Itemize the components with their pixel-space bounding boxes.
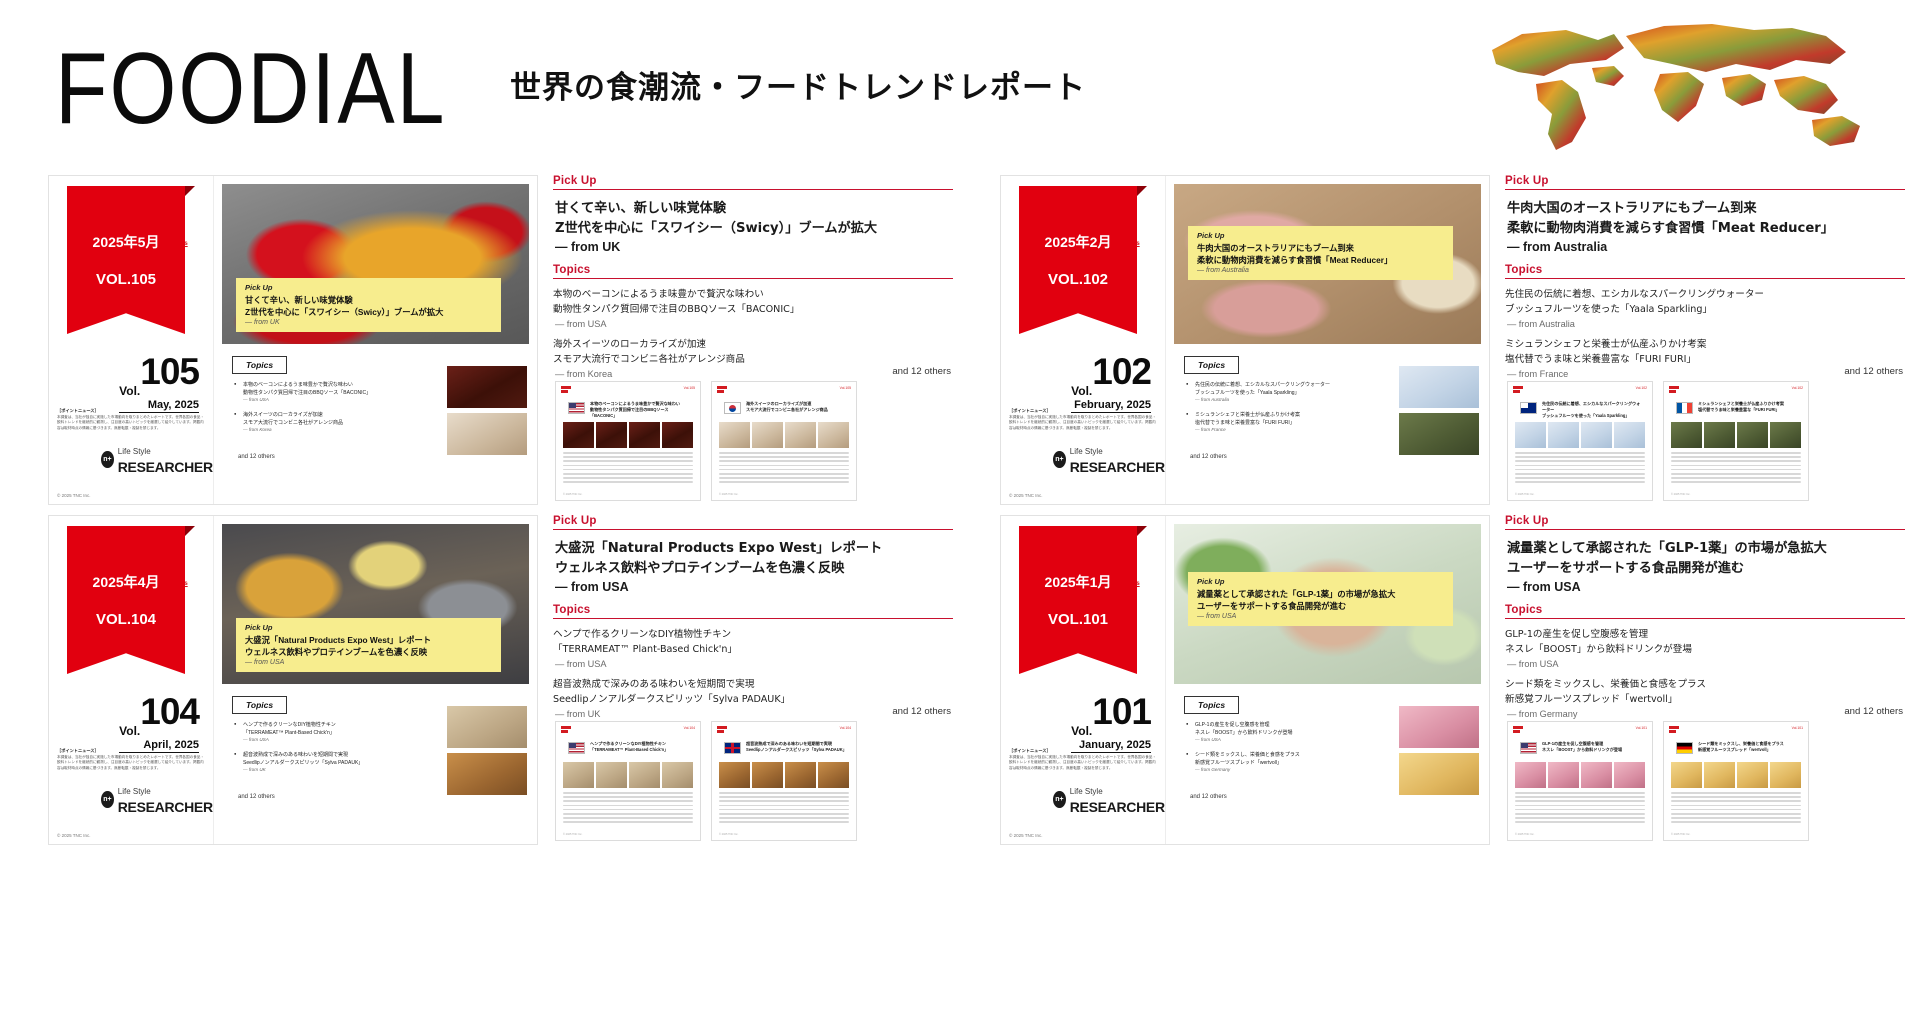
logo-mark-icon: n+ bbox=[101, 451, 114, 468]
and-others-label: and 12 others bbox=[892, 706, 951, 717]
page-header: FOODIAL 世界の食潮流・フードトレンドレポート bbox=[0, 0, 1912, 170]
logo-mark-icon: n+ bbox=[1053, 791, 1066, 808]
pickup-label: Pick Up bbox=[553, 175, 953, 187]
slide-topics-badge: Topics bbox=[232, 356, 287, 374]
topics-section: Topics 先住民の伝統に着想、エシカルなスパークリングウォーター ブッシュフ… bbox=[1505, 264, 1905, 379]
page-title: 世界の食潮流・フードトレンドレポート bbox=[510, 62, 1086, 107]
issue-ribbon: 2025年4月 VOL.104 bbox=[67, 526, 185, 674]
issue-ribbon: 2025年1月 VOL.101 bbox=[1019, 526, 1137, 674]
report-page: FOODIAL 世界の食潮流・フードトレンドレポート bbox=[0, 0, 1912, 1036]
list-item: 超音波熟成で深みのある味わいを短期間で実現 Seedlipノンアルダークスピリッ… bbox=[234, 751, 429, 772]
and-others-label: and 12 others bbox=[1190, 794, 1227, 800]
list-item: ミシュランシェフと栄養士が仏産ふりかけ考案 塩代替でうま味と栄養豊富な「FURI… bbox=[1186, 411, 1381, 432]
pickup-section: Pick Up 減量薬として承認された「GLP-1薬」の市場が急拡大 ユーザーを… bbox=[1505, 515, 1905, 594]
list-item: ヘンプで作るクリーンなDIY植物性チキン 「TERRAMEAT™ Plant-B… bbox=[234, 721, 429, 742]
slide-volume: Vol.101 January, 2025 bbox=[1071, 691, 1151, 753]
and-others-label: and 12 others bbox=[238, 794, 275, 800]
list-item: 海外スイーツのローカライズが加速 スモア大流行でコンビニ各社がアレンジ商品 — … bbox=[234, 411, 429, 432]
hero-photo: Pick Up 減量薬として承認された「GLP-1薬」の市場が急拡大 ユーザーを… bbox=[1174, 524, 1481, 684]
article-thumbnails: Vol.102 先住民の伝統に着想、エシカルなスパークリングウォーターブッシュフ… bbox=[1507, 381, 1809, 501]
article-thumbnail[interactable]: Vol.102 先住民の伝統に着想、エシカルなスパークリングウォーターブッシュフ… bbox=[1507, 381, 1653, 501]
slide-topics-list: ヘンプで作るクリーンなDIY植物性チキン 「TERRAMEAT™ Plant-B… bbox=[234, 721, 429, 781]
list-item: 本物のベーコンによるうま味豊かで贅沢な味わい 動物性タンパク質回帰で注目のBBQ… bbox=[234, 381, 429, 402]
pickup-section: Pick Up 牛肉大国のオーストラリアにもブーム到来 柔軟に動物肉消費を減らす… bbox=[1505, 175, 1905, 254]
flag-icon bbox=[1520, 402, 1537, 414]
topics-label: Topics bbox=[1505, 264, 1905, 276]
flag-icon bbox=[568, 742, 585, 754]
slide-note: ［ポイントニュース］ 本調査は、当社が独自に実施した市場動向を取りまとめたレポー… bbox=[1009, 408, 1159, 431]
list-item: GLP-1の産生を促し空腹感を管理 ネスレ「BOOST」から飲料ドリンクが登場 … bbox=[1186, 721, 1381, 742]
topic-item: GLP-1の産生を促し空腹感を管理 ネスレ「BOOST」から飲料ドリンクが登場 … bbox=[1505, 628, 1905, 669]
card-text-column: Pick Up 減量薬として承認された「GLP-1薬」の市場が急拡大 ユーザーを… bbox=[1505, 515, 1905, 845]
slide-body: Pick Up 大盛況「Natural Products Expo West」レ… bbox=[214, 516, 537, 844]
flag-icon bbox=[1520, 742, 1537, 754]
and-others-label: and 12 others bbox=[238, 454, 275, 460]
copyright: © 2025 TNC Inc. bbox=[57, 493, 91, 498]
hero-callout: Pick Up 減量薬として承認された「GLP-1薬」の市場が急拡大 ユーザーを… bbox=[1188, 572, 1453, 626]
slide-topics-badge: Topics bbox=[1184, 696, 1239, 714]
and-others-label: and 12 others bbox=[1190, 454, 1227, 460]
list-item: シード類をミックスし、栄養価と食感をプラス 新感覚フルーツスプレッド「wertv… bbox=[1186, 751, 1381, 772]
pickup-label: Pick Up bbox=[1505, 515, 1905, 527]
flag-icon bbox=[724, 742, 741, 754]
slide-preview[interactable]: Foodial Trends Vol.105 May, 2025 ［ポイントニュ… bbox=[48, 175, 538, 505]
flag-icon bbox=[568, 402, 585, 414]
report-card[interactable]: Foodial Trends Vol.102 February, 2025 ［ポ… bbox=[1000, 175, 1905, 505]
article-thumbnail[interactable]: Vol.104 超音波熟成で深みのある味わいを短期間で実現Seedlipノンアル… bbox=[711, 721, 857, 841]
article-thumbnails: Vol.104 ヘンプで作るクリーンなDIY植物性チキン「TERRAMEAT™ … bbox=[555, 721, 857, 841]
slide-thumbnails bbox=[447, 366, 527, 460]
slide-thumbnails bbox=[447, 706, 527, 800]
world-map-icon bbox=[1474, 14, 1894, 159]
slide-thumbnails bbox=[1399, 706, 1479, 800]
list-item: 先住民の伝統に着想、エシカルなスパークリングウォーター ブッシュフルーツを使った… bbox=[1186, 381, 1381, 402]
slide-preview[interactable]: Foodial Trends Vol.101 January, 2025 ［ポイ… bbox=[1000, 515, 1490, 845]
topic-item: 先住民の伝統に着想、エシカルなスパークリングウォーター ブッシュフルーツを使った… bbox=[1505, 288, 1905, 329]
report-card[interactable]: Foodial Trends Vol.101 January, 2025 ［ポイ… bbox=[1000, 515, 1905, 845]
flag-icon bbox=[1676, 402, 1693, 414]
article-thumbnail[interactable]: Vol.102 ミシュランシェフと栄養士が仏産ふりかけ考案塩代替でうま味と栄養豊… bbox=[1663, 381, 1809, 501]
flag-icon bbox=[1676, 742, 1693, 754]
article-thumbnail[interactable]: Vol.105 本物のベーコンによるうま味豊かで贅沢な味わい動物性タンパク質回帰… bbox=[555, 381, 701, 501]
pickup-section: Pick Up 甘くて辛い、新しい味覚体験 Z世代を中心に「スワイシー（Swic… bbox=[553, 175, 953, 254]
topics-section: Topics 本物のベーコンによるうま味豊かで贅沢な味わい 動物性タンパク質回帰… bbox=[553, 264, 953, 379]
researcher-logo: n+ Life Style RESEARCHER bbox=[101, 441, 217, 477]
card-text-column: Pick Up 牛肉大国のオーストラリアにもブーム到来 柔軟に動物肉消費を減らす… bbox=[1505, 175, 1905, 505]
topic-item: 本物のベーコンによるうま味豊かで贅沢な味わい 動物性タンパク質回帰で注目のBBQ… bbox=[553, 288, 953, 329]
slide-preview[interactable]: Foodial Trends Vol.104 April, 2025 ［ポイント… bbox=[48, 515, 538, 845]
copyright: © 2025 TNC Inc. bbox=[1009, 833, 1043, 838]
and-others-label: and 12 others bbox=[1844, 366, 1903, 377]
copyright: © 2025 TNC Inc. bbox=[57, 833, 91, 838]
slide-note: ［ポイントニュース］ 本調査は、当社が独自に実施した市場動向を取りまとめたレポー… bbox=[57, 748, 207, 771]
slide-note: ［ポイントニュース］ 本調査は、当社が独自に実施した市場動向を取りまとめたレポー… bbox=[57, 408, 207, 431]
topics-label: Topics bbox=[553, 264, 953, 276]
hero-photo: Pick Up 甘くて辛い、新しい味覚体験 Z世代を中心に「スワイシー（Swic… bbox=[222, 184, 529, 344]
pickup-label: Pick Up bbox=[553, 515, 953, 527]
topics-label: Topics bbox=[1505, 604, 1905, 616]
pickup-label: Pick Up bbox=[1505, 175, 1905, 187]
report-card-grid: Foodial Trends Vol.105 May, 2025 ［ポイントニュ… bbox=[0, 175, 1912, 1035]
report-card[interactable]: Foodial Trends Vol.105 May, 2025 ［ポイントニュ… bbox=[48, 175, 953, 505]
topic-item: ヘンプで作るクリーンなDIY植物性チキン 「TERRAMEAT™ Plant-B… bbox=[553, 628, 953, 669]
article-thumbnails: Vol.101 GLP-1の産生を促し空腹感を管理ネスレ「BOOST」から飲料ド… bbox=[1507, 721, 1809, 841]
slide-preview[interactable]: Foodial Trends Vol.102 February, 2025 ［ポ… bbox=[1000, 175, 1490, 505]
topics-label: Topics bbox=[553, 604, 953, 616]
article-thumbnail[interactable]: Vol.105 海外スイーツのローカライズが加速スモア大流行でコンビニ各社がアレ… bbox=[711, 381, 857, 501]
brand-logo: FOODIAL bbox=[55, 38, 447, 139]
slide-body: Pick Up 牛肉大国のオーストラリアにもブーム到来 柔軟に動物肉消費を減らす… bbox=[1166, 176, 1489, 504]
researcher-logo: n+ Life Style RESEARCHER bbox=[1053, 781, 1169, 817]
topics-section: Topics ヘンプで作るクリーンなDIY植物性チキン 「TERRAMEAT™ … bbox=[553, 604, 953, 719]
logo-mark-icon: n+ bbox=[101, 791, 114, 808]
hero-photo: Pick Up 大盛況「Natural Products Expo West」レ… bbox=[222, 524, 529, 684]
slide-topics-badge: Topics bbox=[232, 696, 287, 714]
slide-volume: Vol.104 April, 2025 bbox=[119, 691, 199, 753]
slide-topics-list: GLP-1の産生を促し空腹感を管理 ネスレ「BOOST」から飲料ドリンクが登場 … bbox=[1186, 721, 1381, 781]
hero-callout: Pick Up 牛肉大国のオーストラリアにもブーム到来 柔軟に動物肉消費を減らす… bbox=[1188, 226, 1453, 280]
slide-volume: Vol.102 February, 2025 bbox=[1071, 351, 1151, 413]
hero-callout: Pick Up 甘くて辛い、新しい味覚体験 Z世代を中心に「スワイシー（Swic… bbox=[236, 278, 501, 332]
hero-callout: Pick Up 大盛況「Natural Products Expo West」レ… bbox=[236, 618, 501, 672]
article-thumbnail[interactable]: Vol.104 ヘンプで作るクリーンなDIY植物性チキン「TERRAMEAT™ … bbox=[555, 721, 701, 841]
hero-photo: Pick Up 牛肉大国のオーストラリアにもブーム到来 柔軟に動物肉消費を減らす… bbox=[1174, 184, 1481, 344]
slide-topics-list: 先住民の伝統に着想、エシカルなスパークリングウォーター ブッシュフルーツを使った… bbox=[1186, 381, 1381, 441]
article-thumbnail[interactable]: Vol.101 GLP-1の産生を促し空腹感を管理ネスレ「BOOST」から飲料ド… bbox=[1507, 721, 1653, 841]
slide-topics-badge: Topics bbox=[1184, 356, 1239, 374]
logo-mark-icon: n+ bbox=[1053, 451, 1066, 468]
slide-thumbnails bbox=[1399, 366, 1479, 460]
slide-body: Pick Up 甘くて辛い、新しい味覚体験 Z世代を中心に「スワイシー（Swic… bbox=[214, 176, 537, 504]
topics-section: Topics GLP-1の産生を促し空腹感を管理 ネスレ「BOOST」から飲料ド… bbox=[1505, 604, 1905, 719]
article-thumbnails: Vol.105 本物のベーコンによるうま味豊かで贅沢な味わい動物性タンパク質回帰… bbox=[555, 381, 857, 501]
pickup-section: Pick Up 大盛況「Natural Products Expo West」レ… bbox=[553, 515, 953, 594]
report-card[interactable]: Foodial Trends Vol.104 April, 2025 ［ポイント… bbox=[48, 515, 953, 845]
slide-volume: Vol.105 May, 2025 bbox=[119, 351, 199, 413]
flag-icon bbox=[724, 402, 741, 414]
researcher-logo: n+ Life Style RESEARCHER bbox=[101, 781, 217, 817]
slide-body: Pick Up 減量薬として承認された「GLP-1薬」の市場が急拡大 ユーザーを… bbox=[1166, 516, 1489, 844]
card-text-column: Pick Up 甘くて辛い、新しい味覚体験 Z世代を中心に「スワイシー（Swic… bbox=[553, 175, 953, 505]
slide-note: ［ポイントニュース］ 本調査は、当社が独自に実施した市場動向を取りまとめたレポー… bbox=[1009, 748, 1159, 771]
researcher-logo: n+ Life Style RESEARCHER bbox=[1053, 441, 1169, 477]
copyright: © 2025 TNC Inc. bbox=[1009, 493, 1043, 498]
issue-ribbon: 2025年5月 VOL.105 bbox=[67, 186, 185, 334]
and-others-label: and 12 others bbox=[1844, 706, 1903, 717]
card-text-column: Pick Up 大盛況「Natural Products Expo West」レ… bbox=[553, 515, 953, 845]
slide-topics-list: 本物のベーコンによるうま味豊かで贅沢な味わい 動物性タンパク質回帰で注目のBBQ… bbox=[234, 381, 429, 441]
and-others-label: and 12 others bbox=[892, 366, 951, 377]
issue-ribbon: 2025年2月 VOL.102 bbox=[1019, 186, 1137, 334]
article-thumbnail[interactable]: Vol.101 シード類をミックスし、栄養価と食感をプラス新感覚フルーツスプレッ… bbox=[1663, 721, 1809, 841]
